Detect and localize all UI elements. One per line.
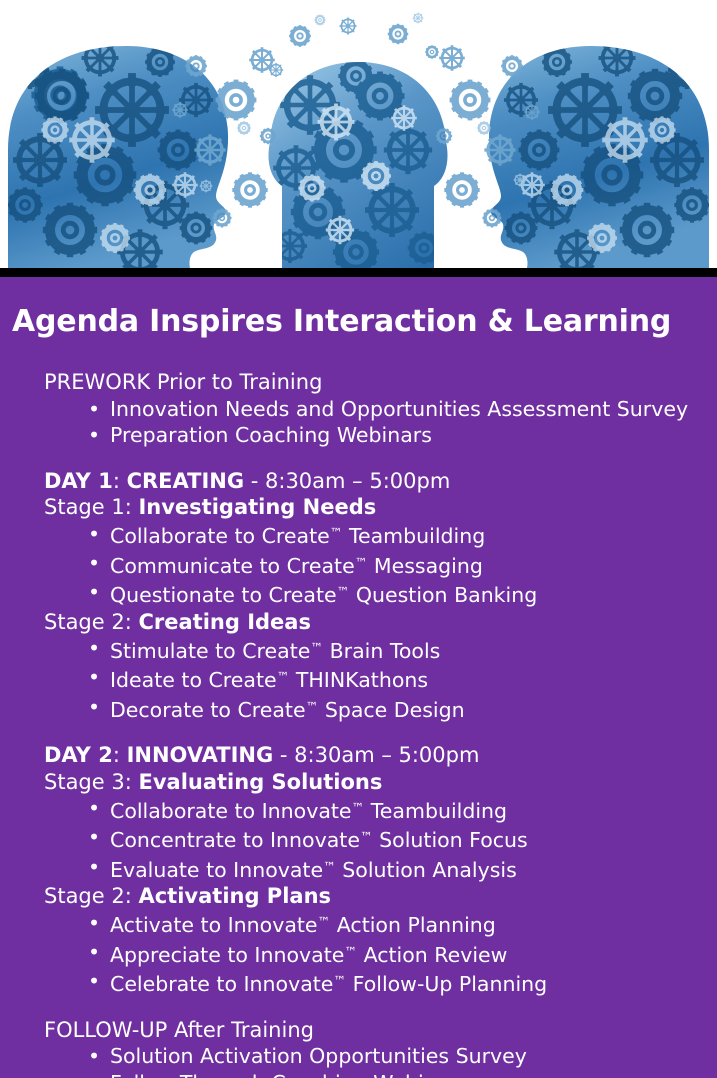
list-item: •Follow-Through Coaching Webinars xyxy=(88,1070,717,1078)
list-item: •Ideate to Create™ THINKathons xyxy=(88,664,717,693)
bullet-dot-icon: • xyxy=(88,422,100,449)
list-item: •Collaborate to Create™ Teambuilding xyxy=(88,521,717,550)
agenda-list: PREWORK Prior to Training•Innovation Nee… xyxy=(0,369,717,1078)
list-item-label: Stimulate to Create™ Brain Tools xyxy=(110,639,440,663)
section-heading-day1: DAY 1: CREATING - 8:30am – 5:00pm xyxy=(44,468,717,495)
bullet-dot-icon: • xyxy=(88,579,100,606)
heading-run: Stage 1: xyxy=(44,495,138,519)
bullet-list-stage2: •Stimulate to Create™ Brain Tools•Ideate… xyxy=(0,635,717,723)
bullet-dot-icon: • xyxy=(88,521,100,548)
section-heading-day2: DAY 2: INNOVATING - 8:30am – 5:00pm xyxy=(44,742,717,769)
heading-run: INNOVATING xyxy=(127,743,274,767)
list-item: •Activate to Innovate™ Action Planning xyxy=(88,910,717,939)
list-item-label: Follow-Through Coaching Webinars xyxy=(110,1071,468,1078)
bullet-dot-icon: • xyxy=(88,635,100,662)
heading-run: : xyxy=(113,469,127,493)
agenda-section-stage3: Stage 3: Evaluating Solutions•Collaborat… xyxy=(0,769,717,884)
list-item-label: Activate to Innovate™ Action Planning xyxy=(110,913,496,937)
list-item: •Stimulate to Create™ Brain Tools xyxy=(88,635,717,664)
bullet-dot-icon: • xyxy=(88,396,100,423)
list-item: •Preparation Coaching Webinars xyxy=(88,422,717,449)
trademark-symbol: ™ xyxy=(306,699,319,714)
section-heading-stage4: Stage 2: Activating Plans xyxy=(44,883,717,910)
trademark-symbol: ™ xyxy=(310,640,323,655)
list-item-label: Decorate to Create™ Space Design xyxy=(110,698,465,722)
list-item: •Innovation Needs and Opportunities Asse… xyxy=(88,396,717,423)
agenda-panel: Agenda Inspires Interaction & Learning P… xyxy=(0,277,717,1078)
list-item: •Evaluate to Innovate™ Solution Analysis xyxy=(88,854,717,883)
heading-run: Stage 2: xyxy=(44,610,138,634)
agenda-section-day2: DAY 2: INNOVATING - 8:30am – 5:00pm xyxy=(0,742,717,769)
list-item: •Questionate to Create™ Question Banking xyxy=(88,579,717,608)
agenda-section-day1: DAY 1: CREATING - 8:30am – 5:00pm xyxy=(0,468,717,495)
trademark-symbol: ™ xyxy=(337,584,350,599)
list-item-label: Innovation Needs and Opportunities Asses… xyxy=(110,397,688,421)
bullet-dot-icon: • xyxy=(88,664,100,691)
list-item: •Communicate to Create™ Messaging xyxy=(88,550,717,579)
list-item-label: Evaluate to Innovate™ Solution Analysis xyxy=(110,858,517,882)
flyer-page: Agenda Inspires Interaction & Learning P… xyxy=(0,0,717,1078)
divider-bar xyxy=(0,268,717,277)
section-heading-followup: FOLLOW-UP After Training xyxy=(44,1017,717,1044)
heading-run: DAY 1 xyxy=(44,469,113,493)
trademark-symbol: ™ xyxy=(355,555,368,570)
heading-run: PREWORK Prior to Training xyxy=(44,370,322,394)
bullet-dot-icon: • xyxy=(88,550,100,577)
section-heading-stage1: Stage 1: Investigating Needs xyxy=(44,494,717,521)
heading-run: Creating Ideas xyxy=(138,610,310,634)
list-item-label: Celebrate to Innovate™ Follow-Up Plannin… xyxy=(110,972,547,996)
bullet-dot-icon: • xyxy=(88,694,100,721)
gear-heads-image xyxy=(0,0,717,268)
bullet-list-prework: •Innovation Needs and Opportunities Asse… xyxy=(0,396,717,449)
list-item: •Solution Activation Opportunities Surve… xyxy=(88,1043,717,1070)
bullet-dot-icon: • xyxy=(88,939,100,966)
heading-run: - 8:30am – 5:00pm xyxy=(244,469,450,493)
trademark-symbol: ™ xyxy=(318,915,331,930)
page-title: Agenda Inspires Interaction & Learning xyxy=(12,307,712,337)
heading-run: Stage 3: xyxy=(44,770,138,794)
agenda-section-stage1: Stage 1: Investigating Needs•Collaborate… xyxy=(0,494,717,609)
list-item: •Decorate to Create™ Space Design xyxy=(88,694,717,723)
list-item-label: Collaborate to Create™ Teambuilding xyxy=(110,524,485,548)
heading-run: FOLLOW-UP After Training xyxy=(44,1018,314,1042)
heading-run: DAY 2 xyxy=(44,743,113,767)
list-item-label: Questionate to Create™ Question Banking xyxy=(110,583,537,607)
list-item: •Appreciate to Innovate™ Action Review xyxy=(88,939,717,968)
heading-run: Evaluating Solutions xyxy=(138,770,382,794)
section-heading-prework: PREWORK Prior to Training xyxy=(44,369,717,396)
bullet-dot-icon: • xyxy=(88,795,100,822)
list-item-label: Preparation Coaching Webinars xyxy=(110,423,432,447)
section-heading-stage2: Stage 2: Creating Ideas xyxy=(44,609,717,636)
trademark-symbol: ™ xyxy=(330,526,343,541)
bullet-dot-icon: • xyxy=(88,824,100,851)
bullet-dot-icon: • xyxy=(88,1043,100,1070)
heading-run: Stage 2: xyxy=(44,884,138,908)
list-item-label: Appreciate to Innovate™ Action Review xyxy=(110,943,507,967)
trademark-symbol: ™ xyxy=(344,944,357,959)
trademark-symbol: ™ xyxy=(333,973,346,988)
trademark-symbol: ™ xyxy=(352,800,365,815)
bullet-list-stage3: •Collaborate to Innovate™ Teambuilding•C… xyxy=(0,795,717,883)
bullet-dot-icon: • xyxy=(88,854,100,881)
list-item-label: Communicate to Create™ Messaging xyxy=(110,554,483,578)
heading-run: CREATING xyxy=(127,469,245,493)
bullet-dot-icon: • xyxy=(88,1070,100,1078)
trademark-symbol: ™ xyxy=(323,859,336,874)
agenda-section-stage4: Stage 2: Activating Plans•Activate to In… xyxy=(0,883,717,998)
list-item-label: Collaborate to Innovate™ Teambuilding xyxy=(110,799,507,823)
trademark-symbol: ™ xyxy=(360,829,373,844)
bullet-dot-icon: • xyxy=(88,968,100,995)
heading-run: : xyxy=(113,743,127,767)
heading-run: - 8:30am – 5:00pm xyxy=(273,743,479,767)
agenda-section-stage2: Stage 2: Creating Ideas•Stimulate to Cre… xyxy=(0,609,717,724)
bullet-list-stage1: •Collaborate to Create™ Teambuilding•Com… xyxy=(0,521,717,609)
bullet-dot-icon: • xyxy=(88,910,100,937)
list-item-label: Solution Activation Opportunities Survey xyxy=(110,1044,527,1068)
trademark-symbol: ™ xyxy=(277,669,290,684)
list-item-label: Ideate to Create™ THINKathons xyxy=(110,668,428,692)
list-item-label: Concentrate to Innovate™ Solution Focus xyxy=(110,828,528,852)
bullet-list-followup: •Solution Activation Opportunities Surve… xyxy=(0,1043,717,1078)
list-item: •Concentrate to Innovate™ Solution Focus xyxy=(88,824,717,853)
agenda-section-followup: FOLLOW-UP After Training•Solution Activa… xyxy=(0,1017,717,1078)
list-item: •Collaborate to Innovate™ Teambuilding xyxy=(88,795,717,824)
heading-run: Investigating Needs xyxy=(138,495,376,519)
agenda-section-prework: PREWORK Prior to Training•Innovation Nee… xyxy=(0,369,717,449)
bullet-list-stage4: •Activate to Innovate™ Action Planning•A… xyxy=(0,910,717,998)
section-heading-stage3: Stage 3: Evaluating Solutions xyxy=(44,769,717,796)
list-item: •Celebrate to Innovate™ Follow-Up Planni… xyxy=(88,968,717,997)
heading-run: Activating Plans xyxy=(138,884,331,908)
